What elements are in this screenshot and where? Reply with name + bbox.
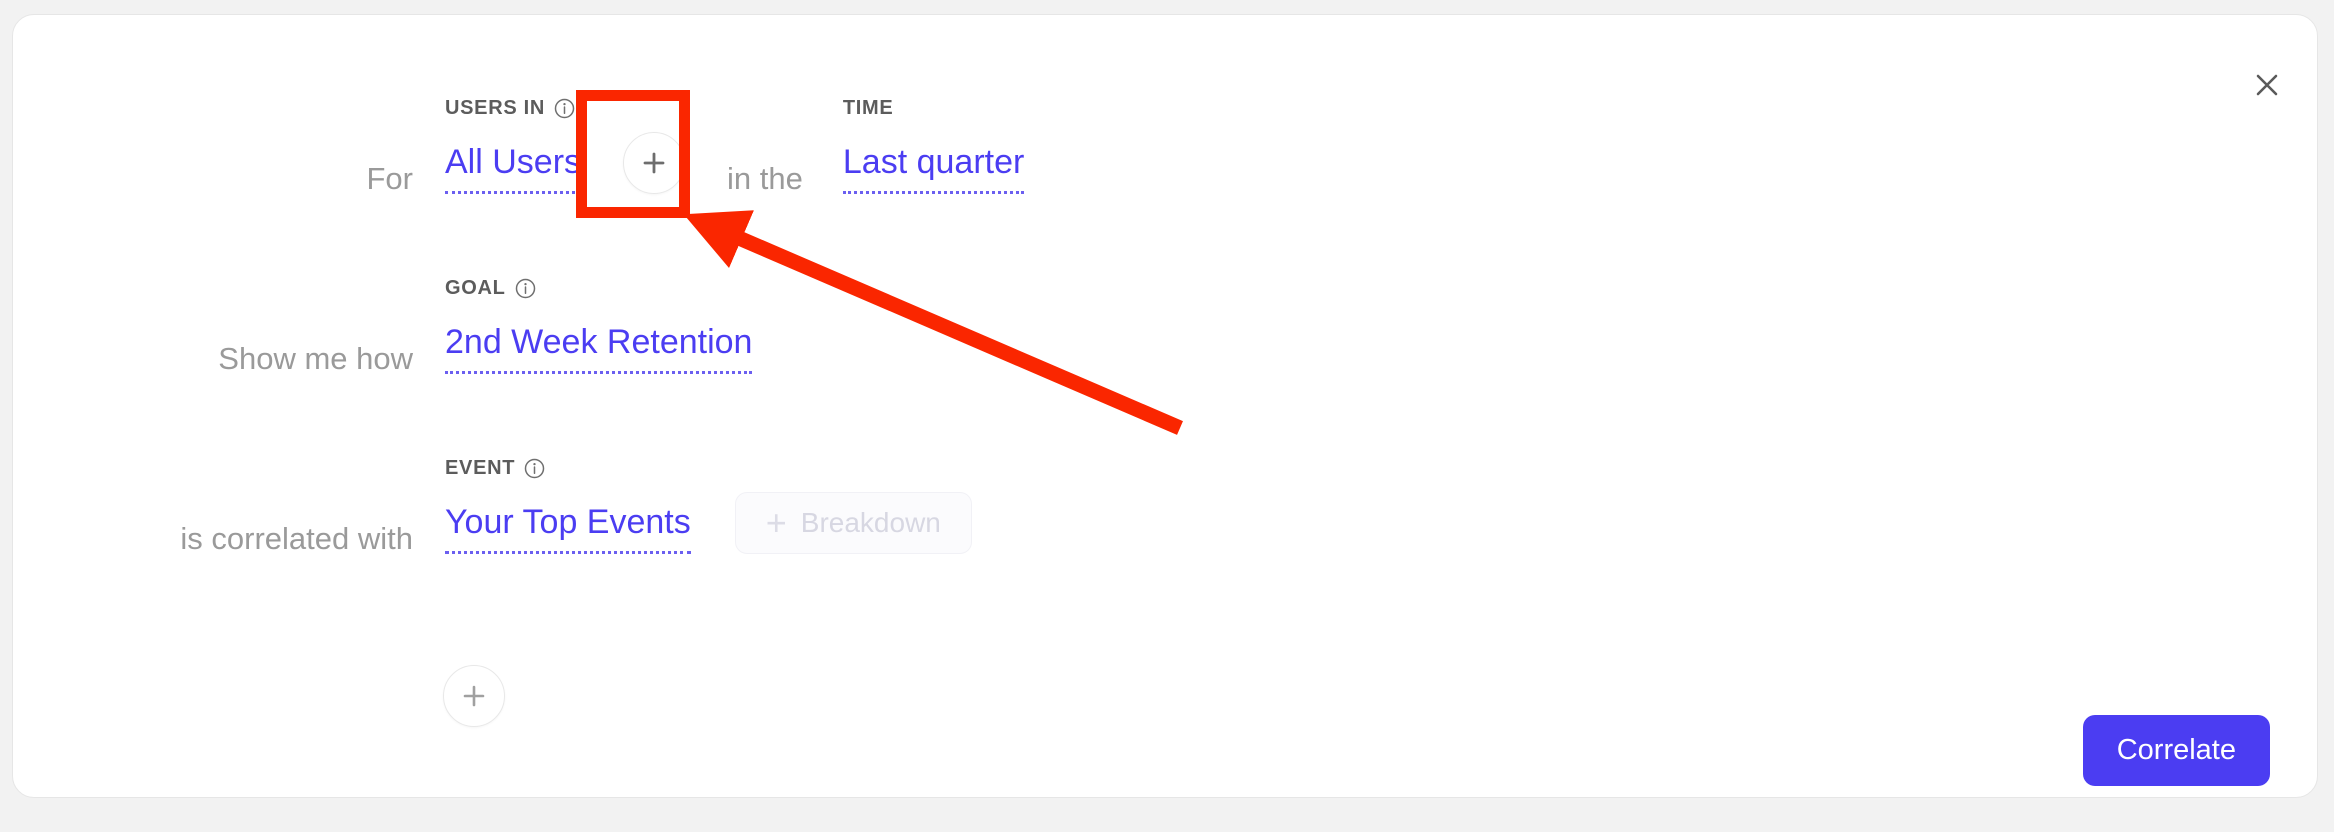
goal-label: GOAL (445, 277, 506, 300)
event-label: EVENT (445, 457, 515, 480)
event-field: EVENT Your Top Events (445, 505, 691, 573)
add-filter-plus-wrapper (623, 132, 685, 213)
event-label-group: EVENT (445, 457, 545, 480)
query-row-goal: Show me how GOAL 2nd Week Retention (13, 283, 752, 393)
goal-value[interactable]: 2nd Week Retention (445, 325, 752, 374)
row-prefix-for: For (13, 163, 445, 213)
row-prefix-show-me-how: Show me how (13, 343, 445, 393)
users-in-field: USERS IN All Users (445, 145, 581, 213)
row-prefix-is-correlated-with: is correlated with (13, 523, 445, 573)
users-in-label: USERS IN (445, 97, 545, 120)
plus-icon (459, 681, 489, 711)
time-label: TIME (843, 97, 894, 120)
correlate-button[interactable]: Correlate (2083, 715, 2270, 786)
close-button[interactable] (2245, 63, 2289, 107)
goal-label-group: GOAL (445, 277, 536, 300)
row-mid-text-in-the: in the (727, 163, 803, 213)
correlation-query-card: For USERS IN All Users (12, 14, 2318, 798)
add-step-button[interactable] (443, 665, 505, 727)
users-in-label-group: USERS IN (445, 97, 575, 120)
breakdown-button[interactable]: + Breakdown (735, 492, 972, 554)
add-filter-plus-button[interactable] (623, 132, 685, 194)
screen-root: For USERS IN All Users (0, 0, 2334, 832)
time-value[interactable]: Last quarter (843, 145, 1024, 194)
close-icon (2252, 70, 2282, 100)
info-icon[interactable] (554, 98, 575, 119)
query-row-event: is correlated with EVENT Your Top Event (13, 463, 972, 573)
plus-icon: + (766, 505, 787, 541)
info-icon[interactable] (524, 458, 545, 479)
time-label-group: TIME (843, 97, 894, 120)
add-step-wrapper (443, 665, 505, 727)
info-icon[interactable] (515, 278, 536, 299)
query-row-users: For USERS IN All Users (13, 103, 1024, 213)
plus-icon (639, 148, 669, 178)
time-field: TIME Last quarter (843, 145, 1024, 213)
breakdown-wrapper: + Breakdown (735, 492, 972, 573)
goal-field: GOAL 2nd Week Retention (445, 325, 752, 393)
users-in-value[interactable]: All Users (445, 145, 581, 194)
breakdown-label: Breakdown (801, 509, 941, 537)
event-value[interactable]: Your Top Events (445, 505, 691, 554)
